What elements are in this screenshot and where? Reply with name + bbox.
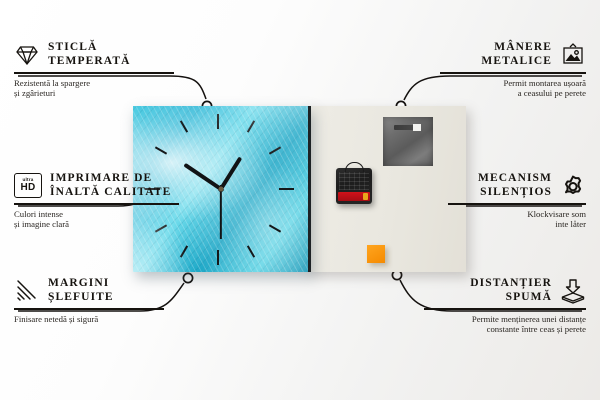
diamond-icon — [14, 42, 40, 68]
callout-desc: Finisare netedă și sigură — [14, 314, 164, 325]
callout-mecanism-silentios: MECANISM SILENȚIOS Klockvisare som inte … — [448, 172, 586, 230]
callout-rule — [440, 72, 586, 74]
clock-back-panel — [305, 106, 466, 272]
picture-hanger-icon — [560, 42, 586, 68]
tick-mark — [217, 114, 219, 129]
hanger-hole — [413, 124, 421, 131]
callout-dot-margini — [183, 273, 192, 282]
metal-hanger-bracket — [383, 117, 433, 166]
callout-desc: Klockvisare som inte låter — [448, 209, 586, 230]
clock-mechanism — [336, 168, 372, 204]
foam-spacer — [367, 245, 385, 263]
callout-distantier-spuma: DISTANȚIER SPUMĂ Permite menținerea unei… — [424, 277, 586, 335]
callout-rule — [14, 72, 174, 74]
tick-mark — [269, 224, 281, 232]
ultra-hd-badge-icon: ultra HD — [14, 173, 42, 198]
mechanism-texture — [339, 172, 369, 190]
infographic-canvas: STICLĂ TEMPERATĂ Rezistentă la spargere … — [0, 0, 600, 400]
tick-mark — [155, 146, 167, 154]
second-hand — [220, 185, 222, 239]
clock-hub — [218, 187, 223, 192]
callout-desc: Culori intense și imagine clară — [14, 209, 179, 230]
product-photo — [133, 106, 466, 272]
callout-title: STICLĂ TEMPERATĂ — [48, 41, 131, 68]
callout-desc: Rezistentă la spargere și zgârieturi — [14, 78, 174, 99]
gear-icon — [560, 173, 586, 199]
battery — [338, 192, 370, 201]
callout-imprimare-calitate: ultra HD IMPRIMARE DE ÎNALTĂ CALITATE Cu… — [14, 172, 179, 230]
callout-rule — [448, 203, 586, 205]
callout-rule — [14, 308, 164, 310]
callout-desc: Permit montarea ușoară a ceasului pe per… — [440, 78, 586, 99]
callout-rule — [14, 203, 179, 205]
callout-title: MÂNERE METALICE — [481, 41, 552, 68]
tick-mark — [180, 245, 188, 257]
tick-mark — [269, 146, 281, 154]
tick-mark — [180, 120, 188, 132]
callout-title: IMPRIMARE DE ÎNALTĂ CALITATE — [50, 172, 171, 199]
tick-mark — [247, 120, 255, 132]
callout-margini-slefuite: MARGINI ȘLEFUITE Finisare netedă și sigu… — [14, 277, 164, 324]
callout-rule — [424, 308, 586, 310]
callout-title: MECANISM SILENȚIOS — [478, 172, 552, 199]
mechanism-loop — [345, 162, 364, 172]
callout-desc: Permite menținerea unei distanțe constan… — [424, 314, 586, 335]
callout-manere-metalice: MÂNERE METALICE Permit montarea ușoară a… — [440, 41, 586, 99]
callout-sticla-temperata: STICLĂ TEMPERATĂ Rezistentă la spargere … — [14, 41, 174, 99]
hd-label: HD — [20, 183, 35, 193]
tick-mark — [217, 250, 219, 265]
tick-mark — [279, 188, 294, 190]
callout-title: DISTANȚIER SPUMĂ — [470, 277, 552, 304]
foam-spacer-icon — [560, 278, 586, 304]
callout-title: MARGINI ȘLEFUITE — [48, 277, 114, 304]
beveled-edge-icon — [14, 278, 40, 304]
tick-mark — [247, 245, 255, 257]
